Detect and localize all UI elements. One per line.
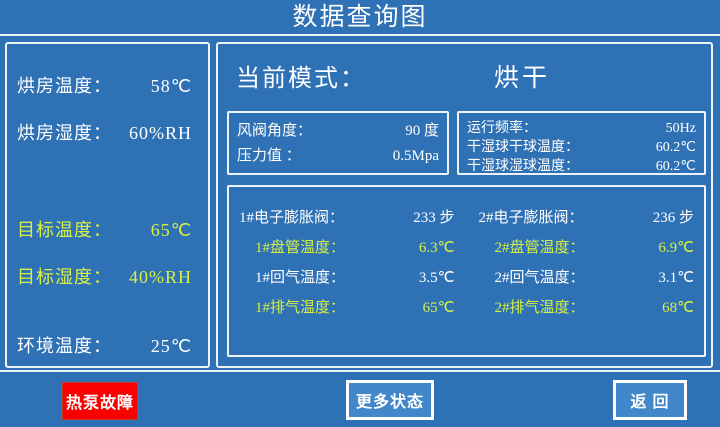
reading-value: 60%RH (129, 123, 192, 144)
row-label: 干湿球干球温度： (467, 138, 579, 157)
current-mode-value: 烘干 (494, 58, 550, 94)
row-value: 233 步 (413, 203, 454, 233)
row-2-return-air-temperature: 2#回气温度： 3.1℃ (479, 263, 695, 293)
compressor-data-box: 1#电子膨胀阀： 233 步 1#盘管温度： 6.3℃ 1#回气温度： 3.5℃… (227, 185, 706, 357)
reading-row-oven-humidity: 烘房湿度： 60%RH (7, 119, 208, 145)
row-2-coil-temperature: 2#盘管温度： 6.9℃ (479, 233, 695, 263)
row-label: 压力值 ： (237, 144, 301, 169)
row-value: 50Hz (666, 119, 696, 138)
current-mode-label: 当前模式： (236, 58, 366, 93)
row-damper-angle: 风阀角度： 90 度 (237, 119, 439, 144)
compressor-column-2: 2#电子膨胀阀： 236 步 2#盘管温度： 6.9℃ 2#回气温度： 3.1℃… (467, 187, 705, 355)
reading-row-ambient-temperature: 环境温度： 25℃ (7, 332, 208, 358)
row-label: 运行频率： (467, 119, 537, 138)
row-value: 68℃ (662, 293, 694, 323)
row-running-frequency: 运行频率： 50Hz (467, 119, 696, 138)
more-status-button[interactable]: 更多状态 (346, 380, 434, 420)
row-value: 60.2℃ (656, 138, 696, 157)
heat-pump-fault-button[interactable]: 热泵故障 (62, 382, 138, 420)
reading-row-oven-temperature: 烘房温度： 58℃ (7, 72, 208, 98)
frequency-wetbulb-box: 运行频率： 50Hz 干湿球干球温度： 60.2℃ 干湿球湿球温度： 60.2℃ (457, 111, 706, 175)
row-1-discharge-temperature: 1#排气温度： 65℃ (239, 293, 455, 323)
title-bar: 数据查询图 (0, 0, 720, 36)
reading-value: 25℃ (151, 336, 192, 357)
reading-label: 烘房温度： (17, 72, 112, 98)
row-value: 60.2℃ (656, 157, 696, 176)
row-label: 1#电子膨胀阀： (239, 203, 344, 233)
reading-label: 烘房湿度： (17, 119, 112, 145)
reading-label: 目标温度： (17, 216, 112, 242)
row-label: 1#排气温度： (255, 293, 345, 323)
row-value: 3.1℃ (658, 263, 694, 293)
reading-value: 58℃ (151, 76, 192, 97)
row-label: 2#排气温度： (495, 293, 585, 323)
left-readings-panel: 烘房温度： 58℃ 烘房湿度： 60%RH 目标温度： 65℃ 目标湿度： 40… (5, 42, 210, 368)
reading-row-target-temperature: 目标温度： 65℃ (7, 216, 208, 242)
reading-value: 40%RH (129, 267, 192, 288)
compressor-column-1: 1#电子膨胀阀： 233 步 1#盘管温度： 6.3℃ 1#回气温度： 3.5℃… (229, 187, 467, 355)
reading-label: 环境温度： (17, 332, 112, 358)
row-1-coil-temperature: 1#盘管温度： 6.3℃ (239, 233, 455, 263)
current-mode-row: 当前模式： 烘干 (218, 58, 711, 94)
bottom-button-bar: 热泵故障 更多状态 返 回 (0, 372, 720, 427)
row-label: 2#回气温度： (495, 263, 585, 293)
row-value: 236 步 (653, 203, 694, 233)
back-button[interactable]: 返 回 (613, 380, 687, 420)
row-value: 6.3℃ (419, 233, 455, 263)
row-label: 干湿球湿球温度： (467, 157, 579, 176)
reading-row-target-humidity: 目标湿度： 40%RH (7, 263, 208, 289)
row-1-return-air-temperature: 1#回气温度： 3.5℃ (239, 263, 455, 293)
row-label: 1#回气温度： (255, 263, 345, 293)
row-value: 65℃ (423, 293, 455, 323)
hmi-screen: 数据查询图 烘房温度： 58℃ 烘房湿度： 60%RH 目标温度： 65℃ 目标… (0, 0, 720, 427)
row-2-discharge-temperature: 2#排气温度： 68℃ (479, 293, 695, 323)
valve-pressure-box: 风阀角度： 90 度 压力值 ： 0.5Mpa (227, 111, 449, 175)
row-wet-bulb-temperature: 干湿球湿球温度： 60.2℃ (467, 157, 696, 176)
row-1-expansion-valve: 1#电子膨胀阀： 233 步 (239, 203, 455, 233)
main-status-panel: 当前模式： 烘干 风阀角度： 90 度 压力值 ： 0.5Mpa 运行频率： 5… (216, 42, 713, 368)
reading-label: 目标湿度： (17, 263, 112, 289)
row-value: 90 度 (405, 119, 439, 144)
row-2-expansion-valve: 2#电子膨胀阀： 236 步 (479, 203, 695, 233)
row-value: 6.9℃ (658, 233, 694, 263)
row-dry-bulb-temperature: 干湿球干球温度： 60.2℃ (467, 138, 696, 157)
row-label: 风阀角度： (237, 119, 312, 144)
row-value: 0.5Mpa (393, 144, 439, 169)
row-label: 1#盘管温度： (255, 233, 345, 263)
row-label: 2#电子膨胀阀： (479, 203, 584, 233)
page-title: 数据查询图 (292, 5, 427, 30)
row-value: 3.5℃ (419, 263, 455, 293)
reading-value: 65℃ (151, 220, 192, 241)
row-pressure-value: 压力值 ： 0.5Mpa (237, 144, 439, 169)
row-label: 2#盘管温度： (495, 233, 585, 263)
